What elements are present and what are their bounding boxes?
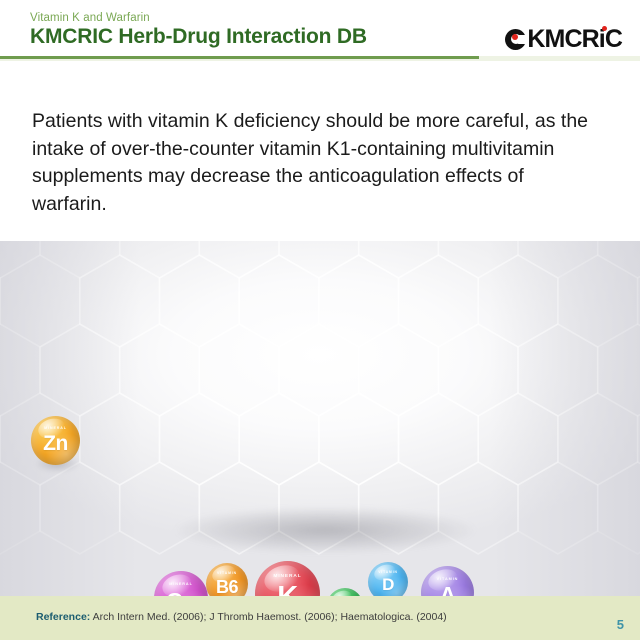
sphere-symbol: K	[277, 583, 297, 596]
sphere-category-label: MINERAL	[44, 427, 67, 431]
kmcric-logo: KMCRiC	[505, 26, 622, 52]
sphere-symbol: B6	[216, 578, 238, 596]
page-header: Vitamin K and Warfarin KMCRIC Herb-Drug …	[0, 0, 640, 60]
kmcric-logo-wordmark: KMCRiC	[527, 25, 622, 53]
nutrient-sphere-d-15: VITAMIND	[368, 562, 408, 596]
reference-line: Reference: Arch Intern Med. (2006); J Th…	[36, 611, 447, 623]
logo-i-dot-icon	[602, 26, 607, 31]
header-divider	[0, 56, 479, 59]
sphere-symbol: Zn	[43, 433, 68, 454]
body-paragraph: Patients with vitamin K deficiency shoul…	[32, 108, 592, 218]
sphere-symbol: A	[439, 584, 455, 596]
page-footer: Reference: Arch Intern Med. (2006); J Th…	[0, 596, 640, 640]
kmcric-logo-mark-icon	[505, 29, 526, 50]
page-title: KMCRIC Herb-Drug Interaction DB	[30, 25, 367, 49]
cluster-floor-shadow	[175, 507, 475, 553]
header-subtitle: Vitamin K and Warfarin	[30, 12, 150, 24]
nutrient-sphere-zn-0: MINERALZn	[31, 416, 80, 465]
nutrient-illustration: MINERALZnMINERALCuMINERALClVITAMINB6VITA…	[0, 241, 640, 596]
reference-label: Reference:	[36, 611, 90, 623]
page-number: 5	[617, 617, 624, 632]
sphere-category-label: VITAMIN	[378, 571, 398, 574]
sphere-symbol: Cu	[166, 590, 196, 596]
sphere-symbol: D	[382, 576, 394, 593]
kmcric-logo-text: KMCRiC	[527, 27, 622, 52]
sphere-category-label: MINERAL	[273, 575, 301, 580]
sphere-category-label: VITAMIN	[217, 572, 237, 575]
reference-text: Arch Intern Med. (2006); J Thromb Haemos…	[93, 611, 447, 623]
sphere-category-label: MINERAL	[169, 583, 193, 587]
